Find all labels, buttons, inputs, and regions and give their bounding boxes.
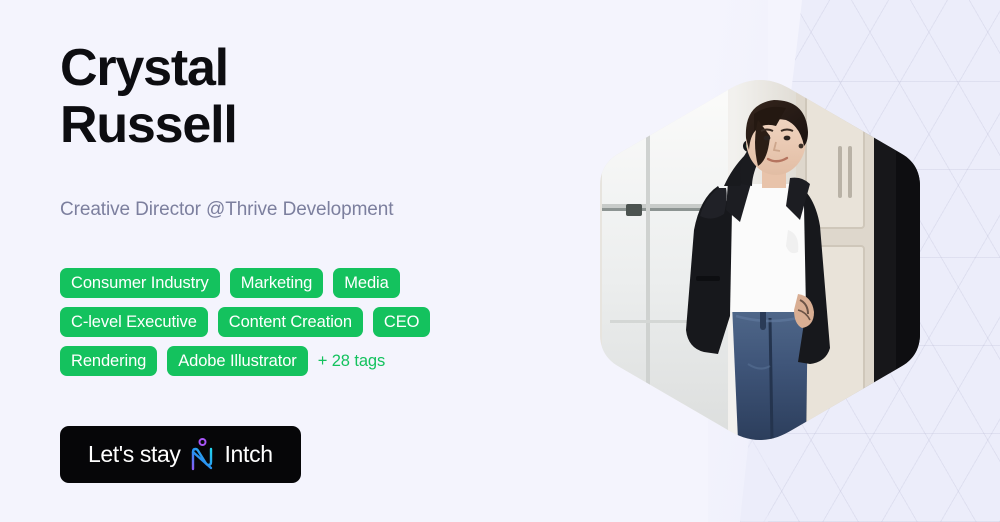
tag-chip[interactable]: Marketing	[230, 268, 324, 298]
profile-content: Crystal Russell Creative Director @Thriv…	[60, 0, 580, 522]
page-title: Crystal Russell	[60, 40, 237, 154]
lets-stay-intch-button[interactable]: Let's stay Intch	[60, 426, 301, 483]
tag-chip[interactable]: Adobe Illustrator	[167, 346, 307, 376]
cta-brand-label: Intch	[224, 441, 272, 468]
cta-label: Let's stay	[88, 441, 180, 468]
tag-chip[interactable]: CEO	[373, 307, 430, 337]
more-tags-link[interactable]: + 28 tags	[318, 346, 385, 376]
profile-card: Crystal Russell Creative Director @Thriv…	[0, 0, 1000, 522]
tag-chip[interactable]: Content Creation	[218, 307, 363, 337]
tag-chip[interactable]: Rendering	[60, 346, 157, 376]
tag-list: Consumer Industry Marketing Media C-leve…	[60, 268, 530, 376]
tag-chip[interactable]: Media	[333, 268, 399, 298]
person-role: Creative Director @Thrive Development	[60, 197, 393, 223]
tag-chip[interactable]: C-level Executive	[60, 307, 208, 337]
tag-chip[interactable]: Consumer Industry	[60, 268, 220, 298]
intch-monogram-icon	[189, 438, 215, 472]
